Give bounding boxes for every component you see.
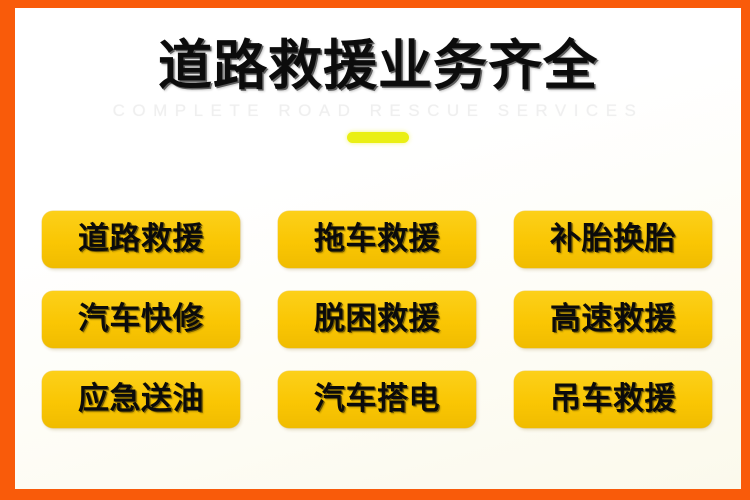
service-chip-road-rescue[interactable]: 道路救援 (42, 211, 240, 268)
service-chip-label: 吊车救援 (550, 384, 676, 415)
service-chip-tire-repair-replace[interactable]: 补胎换胎 (514, 211, 712, 268)
accent-divider (15, 132, 741, 143)
service-chip-label: 补胎换胎 (550, 224, 676, 255)
service-chip-highway-rescue[interactable]: 高速救援 (514, 291, 712, 348)
poster-frame: 道路救援业务齐全 COMPLETE ROAD RESCUE SERVICES 道… (0, 0, 750, 500)
service-chip-label: 道路救援 (78, 224, 204, 255)
poster-canvas: 道路救援业务齐全 COMPLETE ROAD RESCUE SERVICES 道… (15, 8, 741, 489)
service-chip-extrication-rescue[interactable]: 脱困救援 (278, 291, 476, 348)
accent-bar-icon (347, 132, 409, 143)
page-title: 道路救援业务齐全 (15, 38, 741, 94)
service-chip-quick-car-repair[interactable]: 汽车快修 (42, 291, 240, 348)
service-chip-label: 高速救援 (550, 304, 676, 335)
service-chip-label: 汽车搭电 (314, 384, 440, 415)
header: 道路救援业务齐全 COMPLETE ROAD RESCUE SERVICES (15, 38, 741, 143)
service-chip-label: 汽车快修 (78, 304, 204, 335)
service-chip-label: 应急送油 (78, 384, 204, 415)
service-chip-label: 拖车救援 (314, 224, 440, 255)
service-chip-grid: 道路救援 拖车救援 补胎换胎 汽车快修 脱困救援 高速救援 应急送油 汽车搭电 (42, 211, 723, 428)
service-chip-emergency-fuel-delivery[interactable]: 应急送油 (42, 371, 240, 428)
service-chip-jump-start[interactable]: 汽车搭电 (278, 371, 476, 428)
service-chip-tow-rescue[interactable]: 拖车救援 (278, 211, 476, 268)
page-subtitle: COMPLETE ROAD RESCUE SERVICES (15, 101, 741, 121)
service-chip-crane-rescue[interactable]: 吊车救援 (514, 371, 712, 428)
service-chip-label: 脱困救援 (314, 304, 440, 335)
